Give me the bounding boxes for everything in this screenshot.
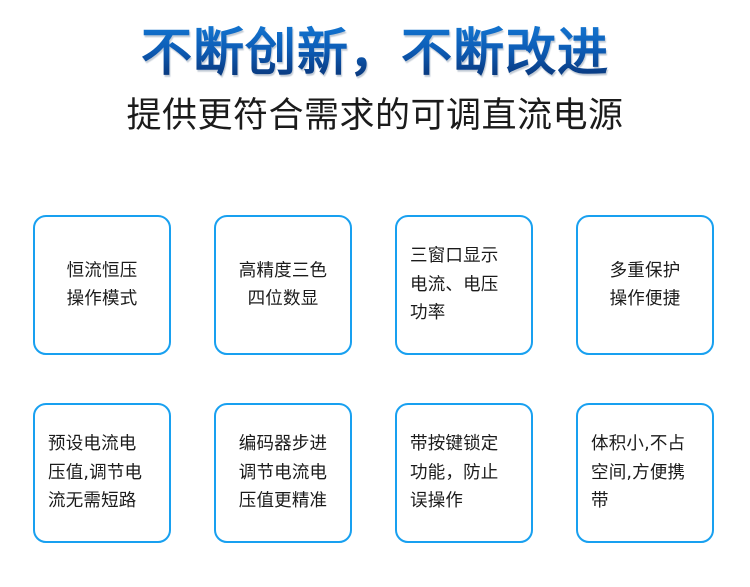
page-header: 不断创新，不断改进 提供更符合需求的可调直流电源 bbox=[0, 0, 750, 137]
feature-card-three-color-four-digit-display[interactable]: 高精度三色 四位数显 bbox=[214, 215, 352, 355]
feature-card-label: 预设电流电 压值,调节电 流无需短路 bbox=[44, 430, 160, 515]
feature-card-grid: 恒流恒压 操作模式 高精度三色 四位数显 三窗口显示 电流、电压 功率 多重保护… bbox=[33, 215, 714, 543]
feature-card-label: 体积小,不占 空间,方便携 带 bbox=[587, 430, 703, 515]
feature-card-multiple-protection[interactable]: 多重保护 操作便捷 bbox=[576, 215, 714, 355]
feature-card-row-2: 预设电流电 压值,调节电 流无需短路 编码器步进 调节电流电 压值更精准 带按键… bbox=[33, 403, 714, 543]
feature-card-label: 编码器步进 调节电流电 压值更精准 bbox=[239, 430, 328, 515]
feature-card-preset-current-voltage[interactable]: 预设电流电 压值,调节电 流无需短路 bbox=[33, 403, 171, 543]
feature-card-label: 高精度三色 四位数显 bbox=[239, 257, 328, 314]
page-subtitle: 提供更符合需求的可调直流电源 bbox=[0, 81, 750, 137]
feature-card-compact-portable[interactable]: 体积小,不占 空间,方便携 带 bbox=[576, 403, 714, 543]
feature-card-row-1: 恒流恒压 操作模式 高精度三色 四位数显 三窗口显示 电流、电压 功率 多重保护… bbox=[33, 215, 714, 355]
page-title: 不断创新，不断改进 bbox=[0, 0, 750, 81]
feature-card-constant-current-voltage[interactable]: 恒流恒压 操作模式 bbox=[33, 215, 171, 355]
feature-card-key-lock-function[interactable]: 带按键锁定 功能，防止 误操作 bbox=[395, 403, 533, 543]
feature-card-label: 三窗口显示 电流、电压 功率 bbox=[406, 242, 522, 327]
feature-card-label: 多重保护 操作便捷 bbox=[610, 257, 681, 314]
feature-card-encoder-step-adjust[interactable]: 编码器步进 调节电流电 压值更精准 bbox=[214, 403, 352, 543]
feature-card-label: 恒流恒压 操作模式 bbox=[67, 257, 138, 314]
feature-card-three-window-display[interactable]: 三窗口显示 电流、电压 功率 bbox=[395, 215, 533, 355]
feature-card-label: 带按键锁定 功能，防止 误操作 bbox=[406, 430, 522, 515]
